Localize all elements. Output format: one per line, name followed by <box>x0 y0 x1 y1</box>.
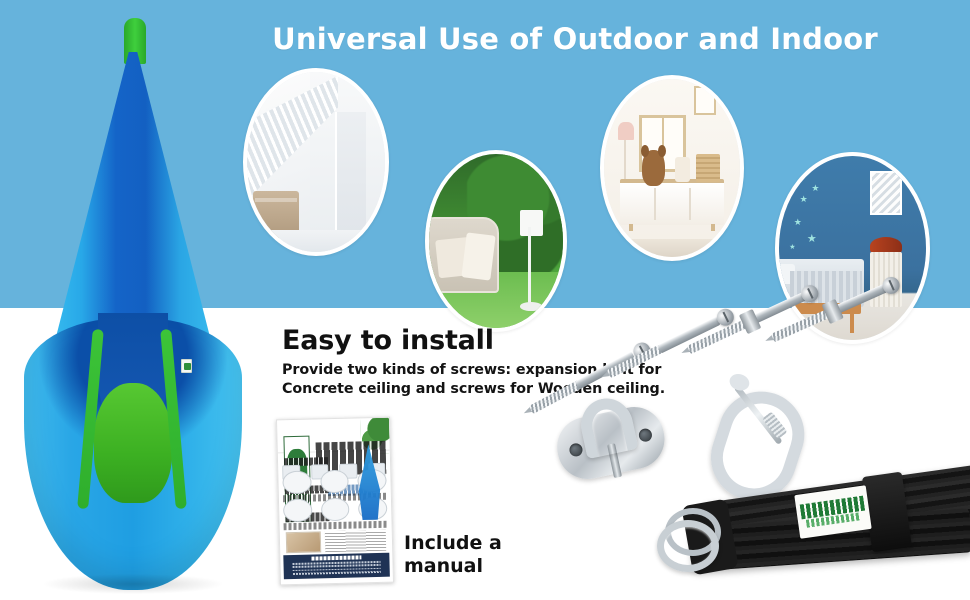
lamp-pole-shape <box>528 227 531 307</box>
small-picture-frame-shape <box>694 86 716 114</box>
floor-shape <box>247 230 385 252</box>
manual-photo-text <box>325 529 387 552</box>
brand-tag <box>181 359 192 373</box>
cushion-shape-2 <box>461 232 496 280</box>
page-title: Universal Use of Outdoor and Indoor <box>270 24 880 56</box>
hanging-strap-hardware <box>651 468 970 588</box>
manual-photo-thumb <box>285 531 321 553</box>
eye-plate-ring <box>576 394 639 460</box>
pod-green-cushion <box>94 383 172 503</box>
hanging-chair-product <box>18 18 248 588</box>
lifestyle-photo-nursery <box>600 75 744 261</box>
stairwell-scene <box>247 72 385 252</box>
star-decal-icon-2: ★ <box>811 185 819 194</box>
chair-seat-pod <box>24 318 242 590</box>
star-decal-icon: ★ <box>800 196 808 205</box>
star-decal-icon-4: ★ <box>807 233 817 244</box>
wall-poster-shape <box>870 171 902 215</box>
sideboard-leg-2 <box>711 224 715 231</box>
product-drop-shadow <box>44 574 222 594</box>
strap-d-ring-1 <box>657 520 719 572</box>
bed-leg-shape-2 <box>850 314 854 332</box>
hardware-group <box>535 350 965 595</box>
floor-lamp-stem-shape <box>624 140 626 183</box>
lifestyle-photo-stairwell <box>243 68 389 256</box>
sideboard-leg <box>629 224 633 231</box>
nursery-scene <box>604 79 740 257</box>
manual-sheet <box>276 417 394 586</box>
vase-shape <box>675 157 690 182</box>
lamp-base-shape <box>520 302 541 311</box>
floor-shape <box>604 239 740 257</box>
floor-lamp-shade-shape <box>618 122 634 140</box>
carabiner-nose <box>727 372 751 393</box>
manual-thumbnail <box>276 417 394 586</box>
bedroom-scene: ★ ★ ★ ★ ★ <box>779 156 926 340</box>
manual-warnings-heading <box>311 556 362 561</box>
manual-caption-line-1: Include a <box>404 532 554 555</box>
manual-caption: Include a manual <box>404 532 554 578</box>
sideboard-divider-2 <box>689 188 691 220</box>
product-banner: Universal Use of Outdoor and Indoor <box>0 0 970 600</box>
lifestyle-photo-garden <box>425 150 567 332</box>
wooden-crate-shape <box>696 154 719 182</box>
garden-scene <box>429 154 563 328</box>
sideboard-shape <box>620 179 723 225</box>
manual-warnings-block <box>284 552 390 579</box>
manual-warning-line-4 <box>293 571 381 575</box>
lamp-shade-shape <box>520 210 543 236</box>
teddy-bear-shape <box>642 150 665 186</box>
lifestyle-photo-bedroom: ★ ★ ★ ★ ★ <box>775 152 930 344</box>
manual-caption-line-2: manual <box>404 555 554 578</box>
star-decal-icon-3: ★ <box>794 219 802 228</box>
star-decal-icon-5: ★ <box>789 244 795 251</box>
sideboard-divider <box>654 188 656 220</box>
